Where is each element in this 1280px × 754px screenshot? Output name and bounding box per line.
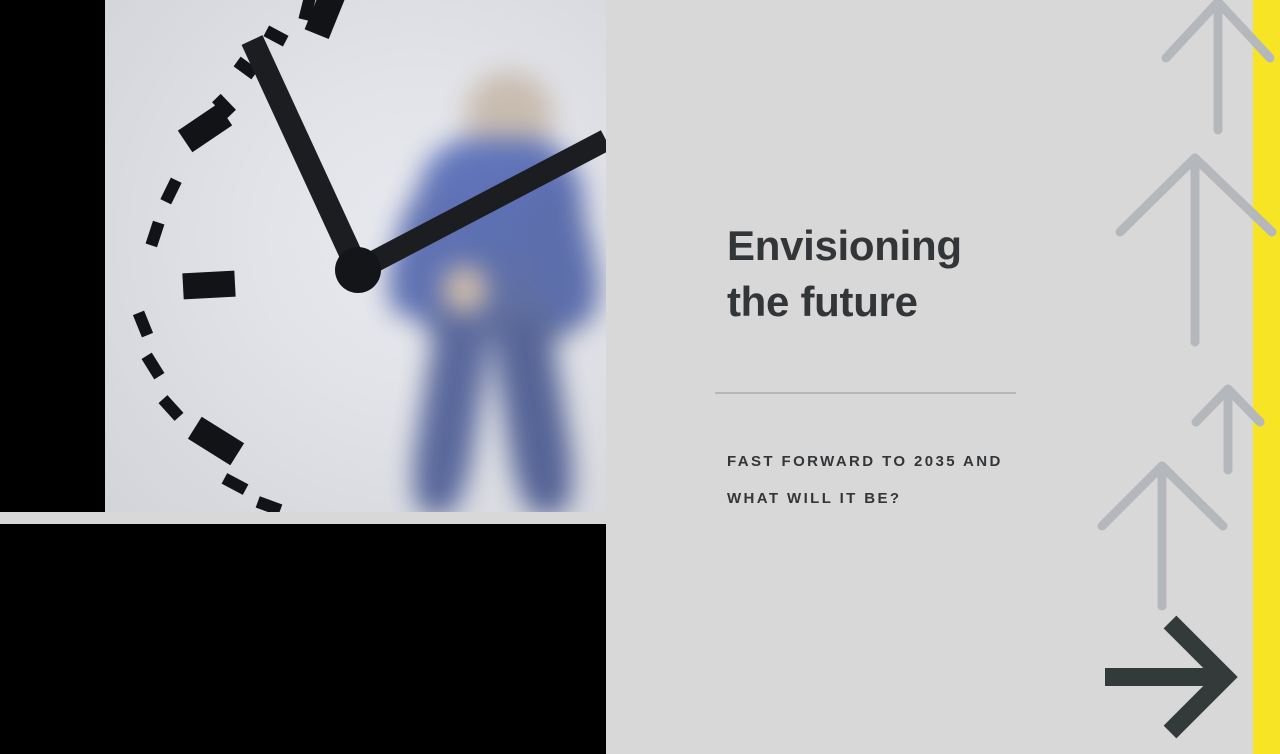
subtitle-text: FAST FORWARD TO 2035 AND WHAT WILL IT BE… [727, 443, 1057, 517]
clock-face-photo [105, 0, 606, 512]
panel-gap [0, 512, 606, 524]
clock-dial-graphic [105, 0, 606, 512]
text-content-block: Envisioning the future FAST FORWARD TO 2… [727, 0, 1127, 754]
slide-canvas: Envisioning the future FAST FORWARD TO 2… [0, 0, 1280, 754]
black-edge-band [0, 0, 105, 512]
page-title: Envisioning the future [727, 218, 962, 330]
divider-rule [715, 392, 1016, 394]
arrow-up-medium [1120, 158, 1272, 342]
media-column [0, 0, 606, 754]
arrow-up-large [1166, 2, 1270, 130]
arrow-up-small [1196, 389, 1260, 470]
clock-photo-panel [0, 0, 606, 512]
black-placeholder-panel [0, 524, 606, 754]
